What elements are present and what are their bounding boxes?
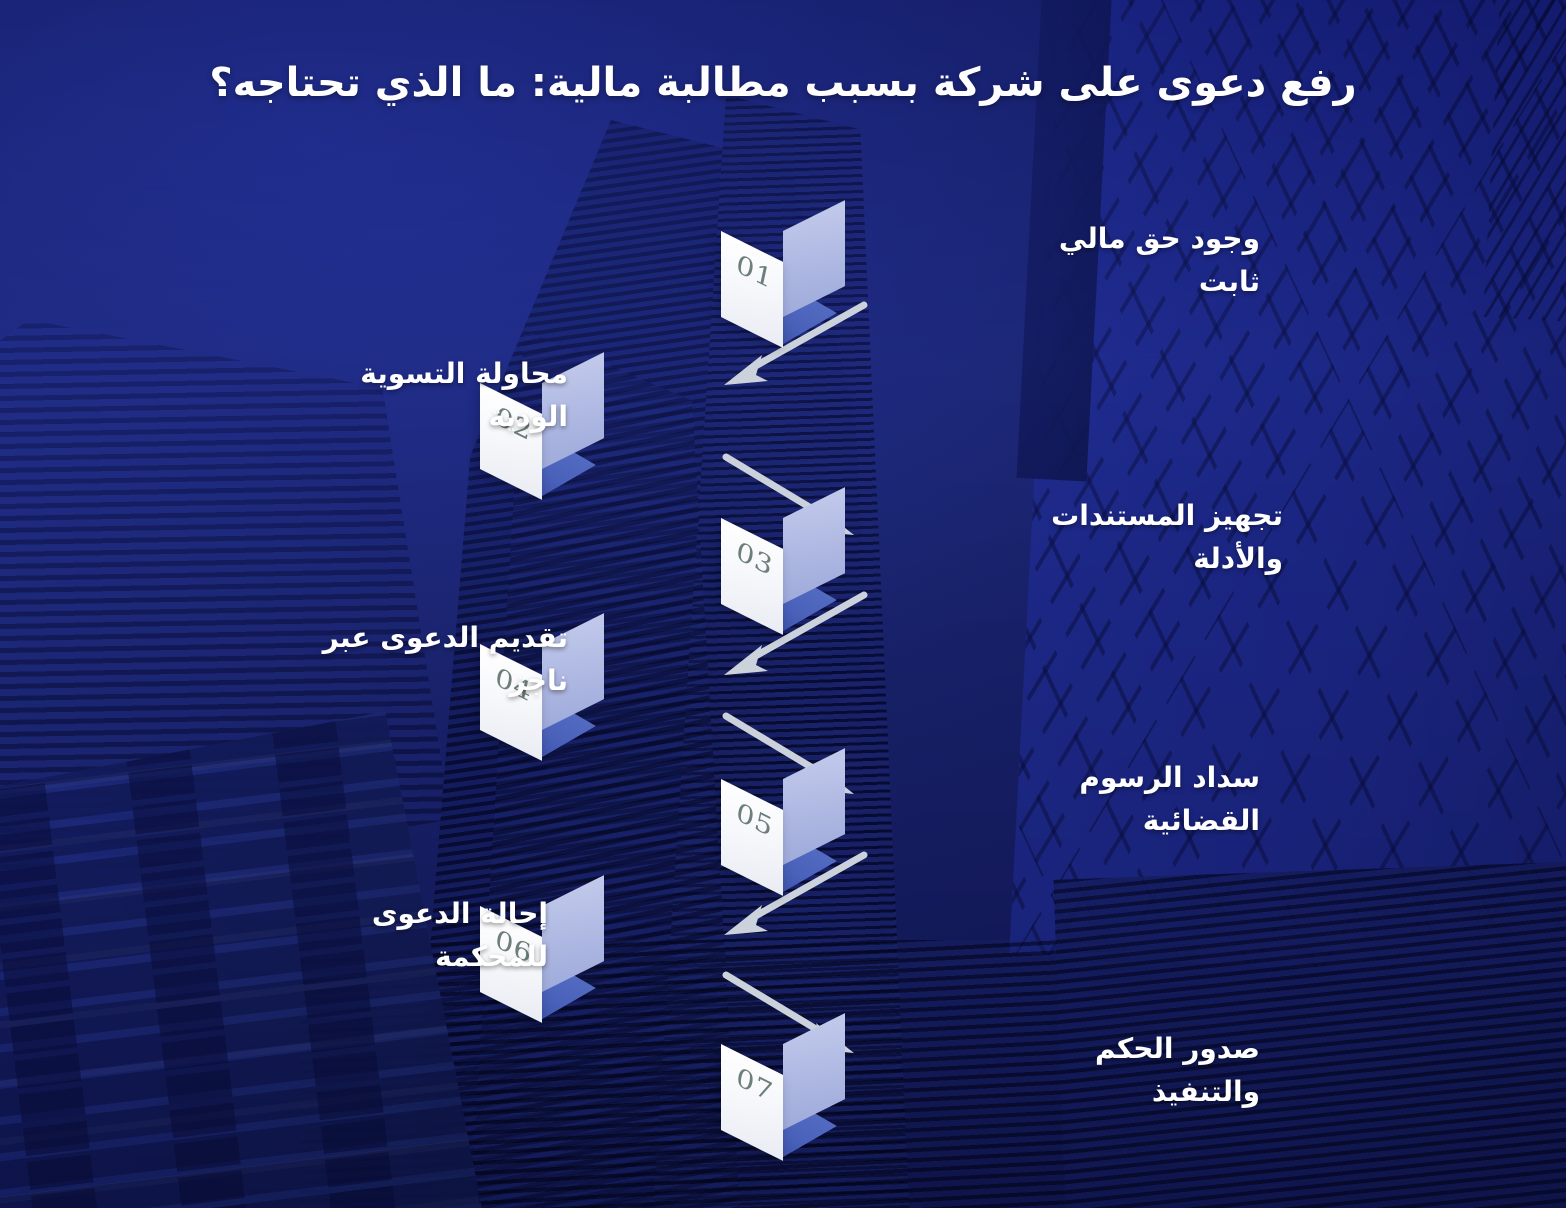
step-cube-03[interactable]: 03 bbox=[721, 492, 843, 630]
cube-face-right bbox=[783, 487, 845, 604]
step-label-01: وجود حق مالي ثابت bbox=[1000, 218, 1260, 303]
cube-face-left bbox=[721, 1044, 783, 1161]
step-label-04: تقديم الدعوى عبر ناجز bbox=[268, 617, 568, 702]
step-cube-01[interactable]: 01 bbox=[721, 205, 843, 343]
cube-face-right bbox=[783, 1013, 845, 1130]
step-cube-05[interactable]: 05 bbox=[721, 753, 843, 891]
infographic-canvas: رفع دعوى على شركة بسبب مطالبة مالية: ما … bbox=[0, 0, 1566, 1208]
cube-face-left bbox=[721, 518, 783, 635]
step-cube-07[interactable]: 07 bbox=[721, 1018, 843, 1156]
step-label-03: تجهيز المستندات والأدلة bbox=[985, 495, 1283, 580]
page-title: رفع دعوى على شركة بسبب مطالبة مالية: ما … bbox=[0, 58, 1566, 108]
cube-face-right bbox=[783, 200, 845, 317]
cube-face-left bbox=[721, 779, 783, 896]
cube-face-right bbox=[542, 875, 604, 992]
cube-face-right bbox=[783, 748, 845, 865]
cube-face-left bbox=[721, 231, 783, 348]
step-label-05: سداد الرسوم القضائية bbox=[1000, 757, 1260, 842]
step-label-06: إحالة الدعوى للمحكمة bbox=[308, 893, 548, 978]
step-label-07: صدور الحكم والتنفيذ bbox=[1010, 1028, 1260, 1113]
step-label-02: محاولة التسوية الودية bbox=[278, 353, 568, 438]
